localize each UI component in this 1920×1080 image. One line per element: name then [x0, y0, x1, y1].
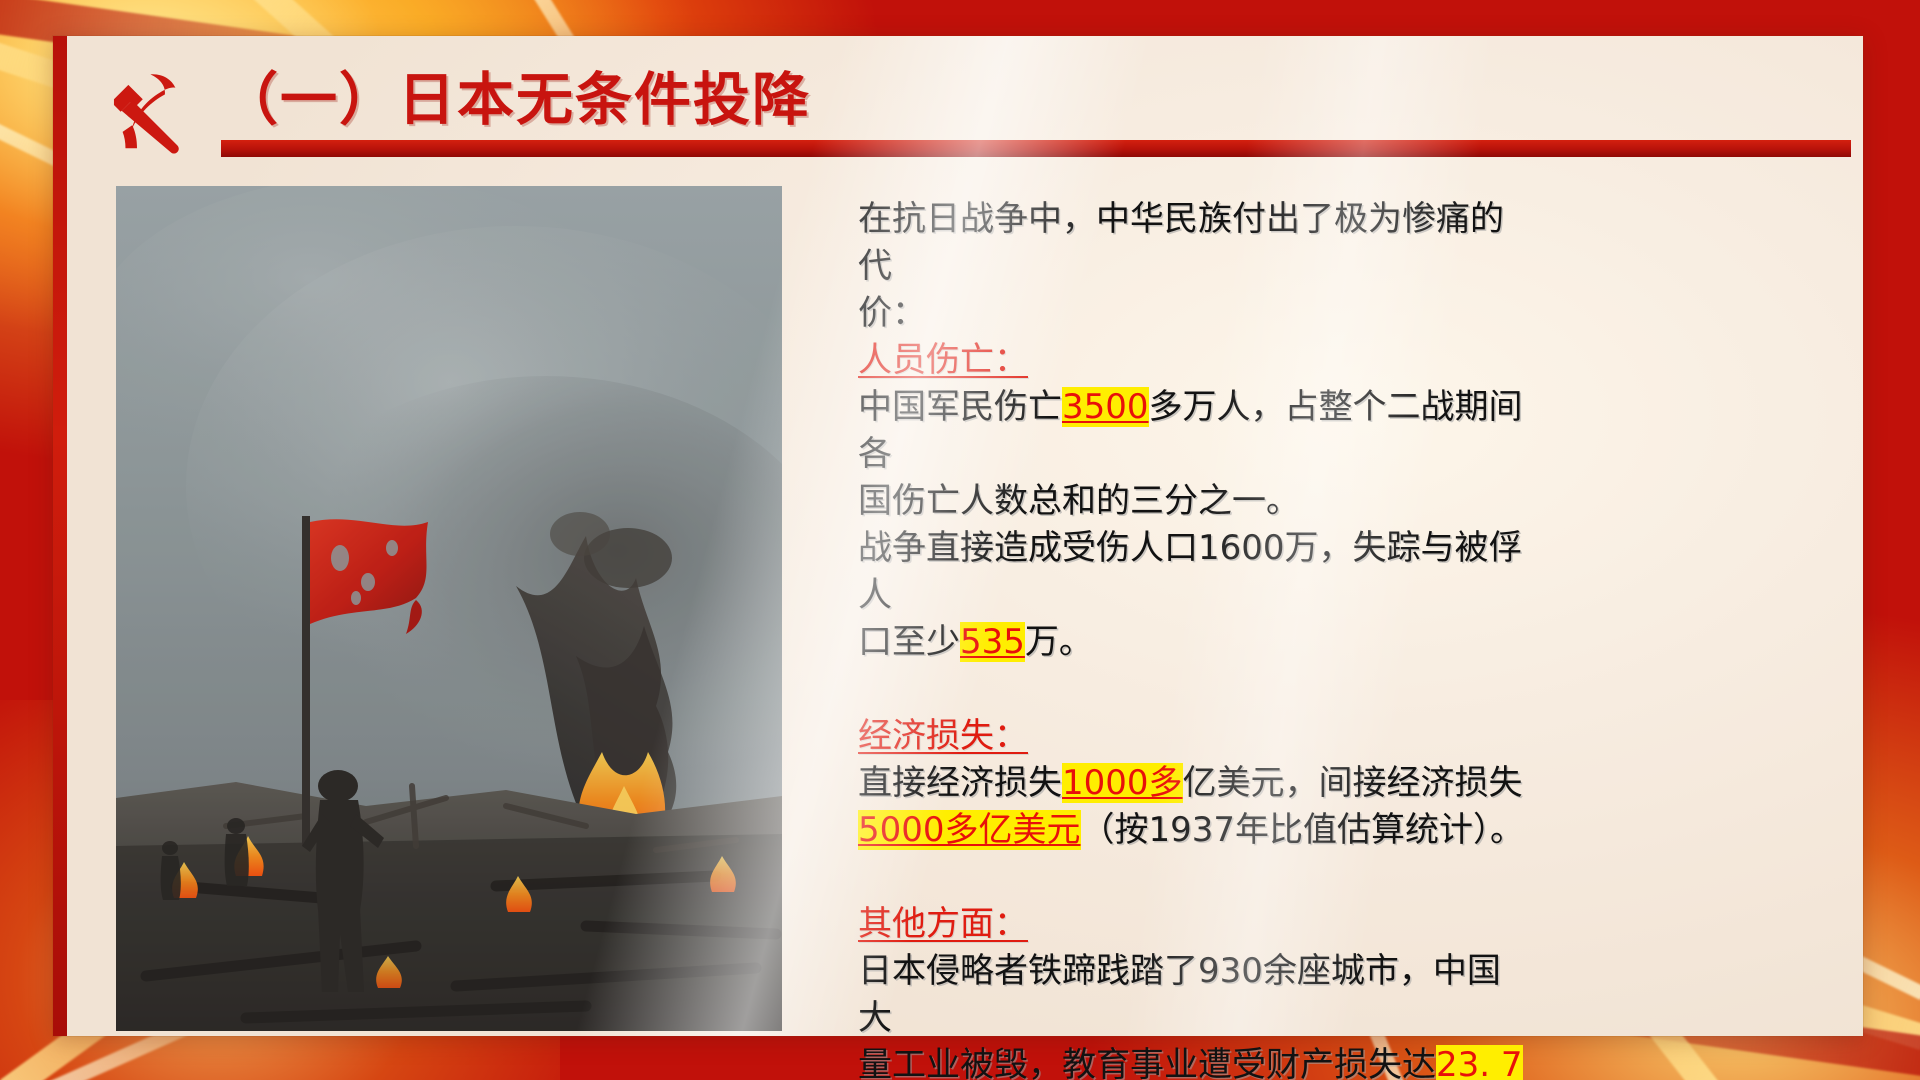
other-line-2-pre: 量工业被毁，教育事业遭受财产损失达	[858, 1045, 1436, 1080]
section-heading-casualties: 人员伤亡：	[858, 337, 1528, 384]
economic-line-2-post: （按1937年比值估算统计）。	[1081, 810, 1525, 850]
slide-body-text: 在抗日战争中，中华民族付出了极为惨痛的代 价： 人员伤亡： 中国军民伤亡3500…	[858, 196, 1528, 1080]
casualties-line-3: 战争直接造成受伤人口1600万，失踪与被俘人	[858, 525, 1528, 619]
war-scene-photo	[116, 186, 782, 1031]
other-line-1: 日本侵略者铁蹄践踏了930余座城市，中国大	[858, 948, 1528, 1042]
economic-line-1-post: 亿美元，间接经济损失	[1183, 763, 1523, 803]
casualties-line-4-pre: 口至少	[858, 622, 960, 662]
card-left-accent-bar	[53, 36, 67, 1036]
section-spacer-2	[858, 854, 1528, 901]
casualties-line-4: 口至少535万。	[858, 619, 1528, 666]
section-spacer-1	[858, 666, 1528, 713]
casualties-line-1-pre: 中国军民伤亡	[858, 387, 1062, 427]
casualties-figure-missing: 535	[960, 622, 1025, 662]
casualties-figure-total: 3500	[1062, 387, 1149, 427]
economic-figure-indirect: 5000多亿美元	[858, 810, 1081, 850]
casualties-line-4-post: 万。	[1025, 622, 1093, 662]
economic-line-1-pre: 直接经济损失	[858, 763, 1062, 803]
casualties-line-1: 中国军民伤亡3500多万人，占整个二战期间各	[858, 384, 1528, 478]
other-line-2: 量工业被毁，教育事业遭受财产损失达23. 7亿	[858, 1042, 1528, 1080]
economic-line-1: 直接经济损失1000多亿美元，间接经济损失	[858, 760, 1528, 807]
casualties-line-2: 国伤亡人数总和的三分之一。	[858, 478, 1528, 525]
other-figure-education-loss: 23. 7	[1436, 1045, 1523, 1080]
section-heading-other: 其他方面：	[858, 901, 1528, 948]
economic-figure-direct: 1000多	[1062, 763, 1183, 803]
hammer-sickle-emblem-icon	[89, 58, 185, 154]
presentation-slide: （一）日本无条件投降	[0, 0, 1920, 1080]
section-heading-economic: 经济损失：	[858, 713, 1528, 760]
slide-content-card: （一）日本无条件投降	[53, 36, 1863, 1036]
slide-header: （一）日本无条件投降	[53, 36, 1863, 186]
title-underline-rule	[221, 140, 1851, 157]
page-title: （一）日本无条件投降	[221, 54, 811, 136]
economic-line-2: 5000多亿美元（按1937年比值估算统计）。	[858, 807, 1528, 854]
intro-line-2: 价：	[858, 290, 1528, 337]
intro-line-1: 在抗日战争中，中华民族付出了极为惨痛的代	[858, 196, 1528, 290]
